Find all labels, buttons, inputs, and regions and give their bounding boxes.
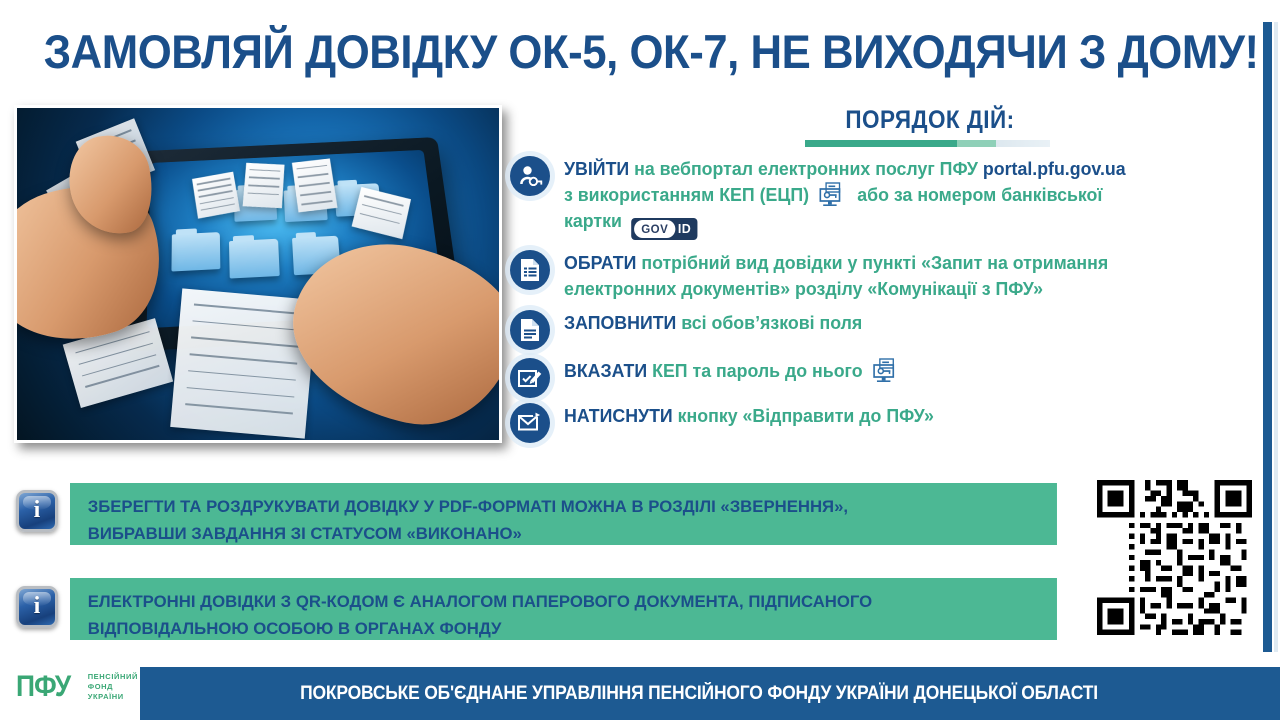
info-box-2-line-1: ЕЛЕКТРОННІ ДОВІДКИ З QR-КОДОМ Є АНАЛОГОМ… [88, 588, 1041, 615]
hero-photo [14, 105, 502, 443]
step-item-5: НАТИСНУТИ кнопку «Відправити до ПФУ» [510, 403, 1200, 443]
pfu-logo-subtitle: ПЕНСІЙНИЙ ФОНД УКРАЇНИ [88, 672, 138, 702]
document-icon [510, 310, 550, 350]
info-icon [16, 586, 58, 628]
step-item-1: УВІЙТИ на вебпортал електронних послуг П… [510, 156, 1210, 240]
step-5-keyword: НАТИСНУТИ [564, 405, 673, 426]
step-3-rest: всі обов’язкові поля [676, 312, 862, 333]
qr-code-icon[interactable] [1097, 480, 1252, 635]
pfu-logo: ПФУ ПЕНСІЙНИЙ ФОНД УКРАЇНИ [16, 672, 138, 702]
step-1-text: УВІЙТИ на вебпортал електронних послуг П… [564, 156, 1126, 240]
document-list-icon [510, 250, 550, 290]
edit-pencil-icon [510, 358, 550, 398]
monitor-key-icon [872, 358, 901, 384]
info-box-2: ЕЛЕКТРОННІ ДОВІДКИ З QR-КОДОМ Є АНАЛОГОМ… [70, 578, 1057, 640]
step-item-3: ЗАПОВНИТИ всі обов’язкові поля [510, 310, 1200, 350]
page-title: ЗАМОВЛЯЙ ДОВІДКУ ОК-5, ОК-7, НЕ ВИХОДЯЧИ… [44, 24, 1207, 80]
step-2-keyword: ОБРАТИ [564, 252, 636, 273]
step-4-keyword: ВКАЗАТИ [564, 360, 647, 381]
info-box-1-line-2: ВИБРАВШИ ЗАВДАННЯ ЗІ СТАТУСОМ «ВИКОНАНО» [88, 520, 1041, 547]
step-3-keyword: ЗАПОВНИТИ [564, 312, 676, 333]
step-1-line3a: картки [564, 210, 622, 231]
step-2-rest: потрібний вид довідки у пункті «Запит на… [564, 252, 1108, 299]
right-accent-stripe [1263, 22, 1272, 652]
pfu-logo-line-1: ПЕНСІЙНИЙ [88, 672, 138, 682]
step-1-keyword: УВІЙТИ [564, 158, 629, 179]
poster-root: ЗАМОВЛЯЙ ДОВІДКУ ОК-5, ОК-7, НЕ ВИХОДЯЧИ… [0, 0, 1280, 720]
info-icon [16, 490, 58, 532]
footer-text: ПОКРОВСЬКЕ ОБ'ЄДНАНЕ УПРАВЛІННЯ ПЕНСІЙНО… [185, 667, 1214, 720]
step-4-text: ВКАЗАТИ КЕП та пароль до нього [564, 358, 906, 384]
pfu-logo-line-2: ФОНД [88, 682, 138, 692]
step-item-4: ВКАЗАТИ КЕП та пароль до нього [510, 358, 1200, 398]
portal-link[interactable]: portal.pfu.gov.ua [983, 158, 1126, 179]
pfu-logo-line-3: УКРАЇНИ [88, 692, 138, 702]
info-box-2-line-2: ВІДПОВІДАЛЬНОЮ ОСОБОЮ В ОРГАНАХ ФОНДУ [88, 615, 1041, 642]
step-1-line2b: або за номером банківської [857, 184, 1102, 205]
step-3-text: ЗАПОВНИТИ всі обов’язкові поля [564, 310, 862, 336]
step-1-rest: на вебпортал електронних послуг ПФУ [629, 158, 983, 179]
step-5-rest: кнопку «Відправити до ПФУ» [673, 405, 934, 426]
info-box-1-line-1: ЗБЕРЕГТИ ТА РОЗДРУКУВАТИ ДОВІДКУ У PDF-Ф… [88, 493, 1041, 520]
gov-id-badge-gov: GOV [635, 220, 675, 238]
gov-id-badge-id: ID [678, 221, 691, 236]
right-accent-stripe-light [1274, 22, 1278, 652]
user-key-icon [510, 156, 550, 196]
info-box-1: ЗБЕРЕГТИ ТА РОЗДРУКУВАТИ ДОВІДКУ У PDF-Ф… [70, 483, 1057, 545]
steps-heading-underline [805, 140, 1050, 147]
steps-heading: ПОРЯДОК ДІЙ: [723, 106, 1137, 135]
envelope-send-icon [510, 403, 550, 443]
step-1-line2a: з використанням КЕП (ЕЦП) [564, 184, 809, 205]
pfu-logo-mark: ПФУ [16, 672, 70, 702]
step-4-rest: КЕП та пароль до нього [647, 360, 867, 381]
step-2-text: ОБРАТИ потрібний вид довідки у пункті «З… [564, 250, 1159, 302]
gov-id-badge: GOVID [632, 218, 697, 240]
step-item-2: ОБРАТИ потрібний вид довідки у пункті «З… [510, 250, 1200, 302]
step-5-text: НАТИСНУТИ кнопку «Відправити до ПФУ» [564, 403, 934, 429]
monitor-key-icon [819, 182, 848, 208]
